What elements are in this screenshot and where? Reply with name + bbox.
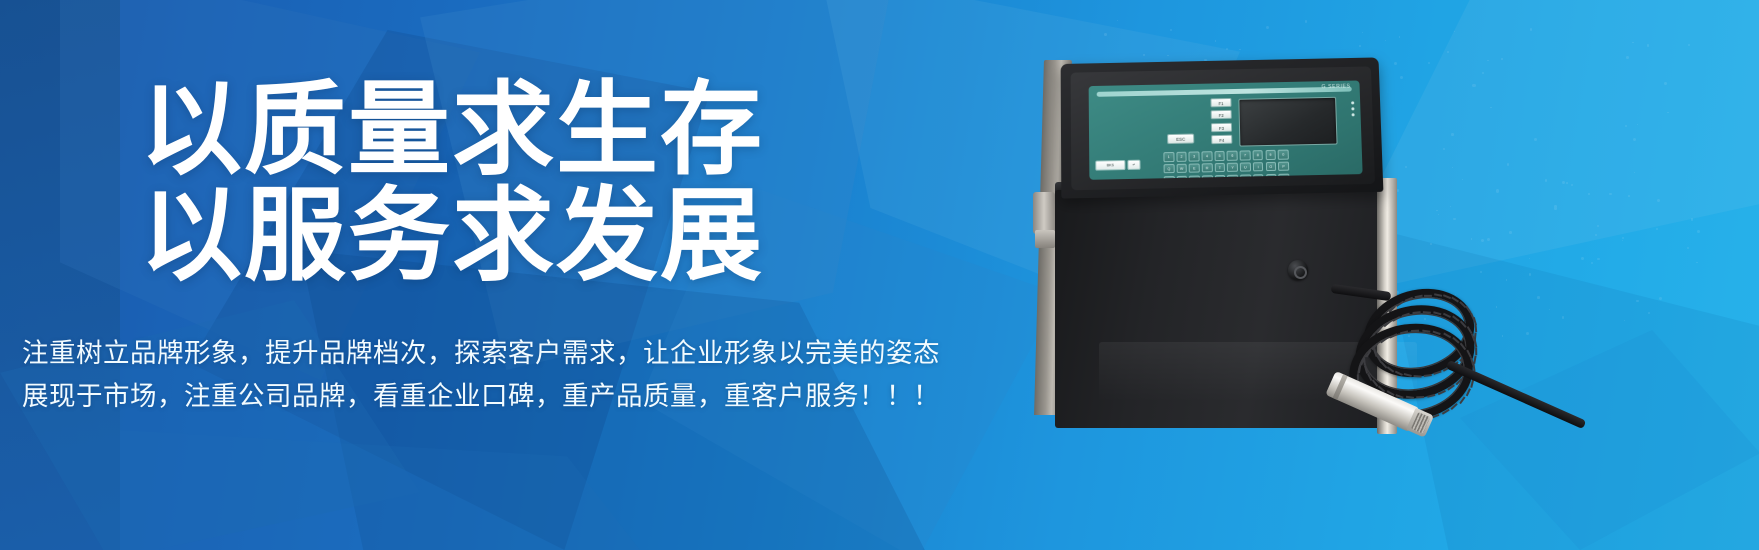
cable-ridge [1465, 388, 1470, 396]
decorative-dot [1634, 172, 1635, 173]
inkjet-printer-product-image: G SERIES F1F2F3F4 ESC BKS↵Caps▲CtrlAltSh… [1015, 42, 1535, 512]
cable-ridge [1396, 301, 1404, 307]
cable-ridge [1434, 294, 1442, 297]
printer-bracket [1033, 192, 1055, 234]
cable-ridge [1433, 331, 1441, 335]
key-o[interactable]: O [1265, 162, 1276, 172]
decorative-dot [1591, 262, 1593, 264]
decorative-dot [1622, 237, 1624, 239]
cable-ridge [1475, 347, 1477, 355]
led-dot [1351, 107, 1354, 110]
key-r[interactable]: R [1202, 163, 1213, 173]
cable-ridge [1475, 325, 1477, 333]
decorative-dot [1117, 20, 1118, 21]
cable-ridge [1452, 337, 1459, 343]
control-panel: G SERIES F1F2F3F4 ESC BKS↵Caps▲CtrlAltSh… [1089, 80, 1363, 179]
key-j[interactable]: J [1240, 174, 1251, 180]
brand-label: G SERIES [1321, 84, 1350, 91]
cable-ridge [1405, 298, 1413, 302]
cable-ridge [1422, 330, 1430, 333]
modifier-key-group[interactable]: BKS↵Caps▲CtrlAltShift●↵Stop [1095, 152, 1161, 180]
cable-ridge [1443, 313, 1451, 318]
cable-ridge [1424, 295, 1432, 297]
banner-copy: 以质量求生存 以服务求发展 注重树立品牌形象，提升品牌档次，探索客户需求，让企业… [0, 0, 1010, 550]
control-head-bezel: G SERIES F1F2F3F4 ESC BKS↵Caps▲CtrlAltSh… [1071, 66, 1375, 190]
decorative-dot [1104, 33, 1107, 36]
decorative-dot [1170, 29, 1173, 32]
decorative-dot [1626, 56, 1629, 59]
cable-ridge [1451, 403, 1458, 410]
headline-line-2: 以服务求发展 [140, 184, 764, 290]
decorative-dot [1595, 234, 1597, 236]
function-key-f2[interactable]: F2 [1211, 110, 1232, 119]
lcd-screen [1238, 97, 1337, 147]
cable-ridge [1470, 312, 1475, 320]
modifier-key-small[interactable]: ▲ [1128, 179, 1141, 180]
led-dot [1352, 113, 1355, 116]
decorative-dot [1571, 184, 1573, 186]
function-key-f4[interactable]: F4 [1211, 135, 1232, 144]
cable-ridge [1372, 343, 1379, 350]
key-g[interactable]: G [1215, 175, 1226, 180]
decorative-dot [1399, 36, 1400, 37]
function-key-column[interactable]: F1F2F3F4 [1210, 98, 1232, 148]
cable-ridge [1366, 350, 1372, 358]
decorative-dot [1385, 40, 1386, 41]
cable-ridge [1400, 331, 1408, 334]
latch-ring [1294, 266, 1307, 279]
led-dot [1351, 101, 1354, 104]
cable-ridge [1402, 313, 1410, 317]
key-1[interactable]: 1 [1163, 152, 1174, 162]
function-key-f1[interactable]: F1 [1210, 98, 1231, 107]
decorative-dot [1609, 193, 1611, 195]
decorative-dot [1566, 182, 1568, 184]
cable-ridge [1390, 334, 1398, 339]
modifier-key-caps[interactable]: Caps [1095, 179, 1125, 180]
subtitle-line-1: 注重树立品牌形象，提升品牌档次，探索客户需求，让企业形象以完美的姿态 [22, 332, 972, 375]
decorative-dot [1597, 225, 1599, 227]
key-3[interactable]: 3 [1189, 151, 1200, 161]
key-;[interactable]: ; [1278, 173, 1289, 180]
key-6[interactable]: 6 [1227, 151, 1238, 161]
cable-ridge [1411, 330, 1419, 332]
key-l[interactable]: L [1266, 173, 1277, 179]
key-7[interactable]: 7 [1240, 150, 1251, 160]
decorative-dot [1647, 44, 1650, 47]
decorative-dot [1687, 247, 1689, 249]
decorative-dot [1648, 312, 1650, 314]
cable-ridge [1380, 338, 1387, 344]
decorative-dot [1545, 179, 1548, 182]
escape-key[interactable]: ESC [1167, 134, 1194, 145]
page-title: 以质量求生存 以服务求发展 [140, 78, 764, 290]
printer-bracket-clip [1035, 230, 1055, 248]
modifier-key-small[interactable]: ↵ [1127, 160, 1140, 170]
decorative-dot [1688, 44, 1690, 46]
key-5[interactable]: 5 [1214, 151, 1225, 161]
cable-ridge [1423, 311, 1431, 313]
decorative-dot [1454, 31, 1455, 32]
cable-ridge [1470, 380, 1473, 388]
cable-ridge [1441, 409, 1449, 415]
key-9[interactable]: 9 [1265, 150, 1276, 160]
decorative-dot [1659, 297, 1662, 300]
key-4[interactable]: 4 [1202, 151, 1213, 161]
decorative-dot [1667, 112, 1669, 114]
decorative-dot [1562, 181, 1565, 184]
decorative-dot [1588, 193, 1590, 195]
promo-banner: 以质量求生存 以服务求发展 注重树立品牌形象，提升品牌档次，探索客户需求，让企业… [0, 0, 1759, 550]
decorative-dot [1624, 320, 1625, 321]
key-0[interactable]: 0 [1278, 150, 1289, 160]
modifier-key-bks[interactable]: BKS [1095, 160, 1125, 170]
decorative-dot [1554, 207, 1556, 209]
key-p[interactable]: P [1278, 161, 1289, 171]
decorative-dot [1266, 26, 1269, 29]
status-led-dots [1351, 98, 1357, 120]
cable-ridge [1414, 295, 1422, 298]
decorative-dot [1628, 195, 1630, 197]
key-i[interactable]: I [1253, 162, 1264, 172]
key-2[interactable]: 2 [1176, 152, 1187, 162]
headline-line-1: 以质量求生存 [140, 78, 764, 184]
decorative-dot [1362, 32, 1363, 33]
decorative-dot [1637, 124, 1638, 125]
decorative-dot [1656, 228, 1658, 230]
decorative-dot [1632, 42, 1633, 43]
function-key-f3[interactable]: F3 [1211, 123, 1232, 132]
decorative-dot [1664, 82, 1667, 85]
decorative-dot [1657, 199, 1660, 202]
cable-ridge [1383, 321, 1390, 327]
key-e[interactable]: E [1189, 163, 1200, 173]
subtitle-line-2: 展现于市场，注重公司品牌，看重企业口碑，重产品质量，重客户服务！！！ [22, 375, 972, 418]
key-q[interactable]: Q [1164, 164, 1175, 174]
decorative-dot [1597, 258, 1600, 261]
printer-control-head: G SERIES F1F2F3F4 ESC BKS↵Caps▲CtrlAltSh… [1061, 57, 1384, 198]
banner-subtitle: 注重树立品牌形象，提升品牌档次，探索客户需求，让企业形象以完美的姿态 展现于市场… [22, 332, 972, 418]
key-u[interactable]: U [1240, 162, 1251, 172]
key-k[interactable]: K [1253, 174, 1264, 180]
decorative-dot [1633, 138, 1636, 141]
key-h[interactable]: H [1227, 174, 1238, 180]
cable-ridge [1412, 312, 1420, 314]
cable-ridge [1443, 295, 1451, 299]
key-y[interactable]: Y [1227, 162, 1238, 172]
keyboard-grid[interactable]: 1234567890QWERTYUIOPASDFGHJKL;ZXCVBNM,./ [1163, 148, 1356, 173]
decorative-dot [1691, 218, 1694, 221]
cable-ridge [1459, 396, 1465, 403]
key-a[interactable]: A [1164, 176, 1175, 180]
decorative-dot [1625, 125, 1628, 128]
decorative-dot [1696, 262, 1697, 263]
decorative-dot [1554, 205, 1557, 208]
decorative-dot [1305, 20, 1308, 23]
key-f[interactable]: F [1202, 175, 1213, 180]
key-s[interactable]: S [1176, 175, 1187, 179]
cable-ridge [1434, 311, 1442, 315]
cable-ridge [1392, 316, 1400, 321]
decorative-dot [1581, 257, 1584, 260]
door-latch-icon [1285, 257, 1311, 287]
panel-top-strip [1097, 87, 1352, 97]
cable-ridge [1443, 333, 1451, 338]
key-t[interactable]: T [1214, 163, 1225, 173]
key-8[interactable]: 8 [1252, 150, 1263, 160]
decorative-dot [1530, 28, 1533, 31]
decorative-dot [1622, 240, 1623, 241]
decorative-dot [1636, 300, 1639, 303]
key-d[interactable]: D [1189, 175, 1200, 180]
key-w[interactable]: W [1176, 164, 1187, 174]
